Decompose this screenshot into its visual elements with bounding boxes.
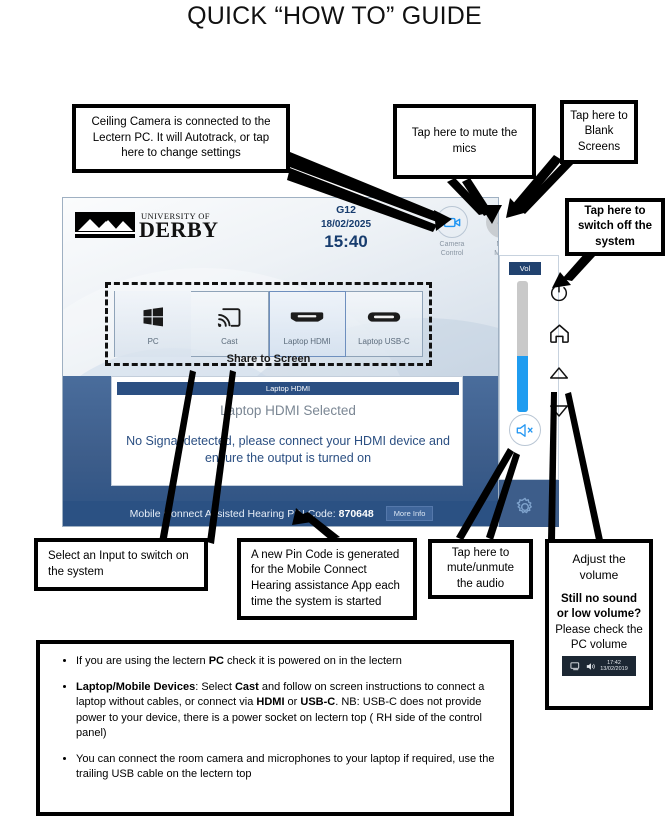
volume-slider[interactable] [517,281,528,412]
hdmi-icon [290,302,324,332]
adjust-volume-line3: Please check the PC volume [555,623,643,653]
mute-audio-button[interactable] [509,414,541,446]
mic-mute-label: Mic Mute [475,241,499,259]
adjust-volume-line2: Still no sound or low volume? [555,592,643,622]
callout-mute-audio: Tap here to mute/unmute the audio [428,539,533,599]
microphone-muted-icon [494,213,500,232]
callout-mute-mics: Tap here to mute the mics [393,104,536,179]
callout-ceiling-camera-text: Ceiling Camera is connected to the Lecte… [82,115,280,162]
room-name: G12 [301,204,391,218]
room-datetime-block: G12 18/02/2025 15:40 [301,204,391,252]
cast-icon [217,302,242,332]
adjust-volume-line1: Adjust the volume [555,551,643,583]
pin-code-value: 870648 [339,508,374,520]
list-item: Laptop/Mobile Devices: Select Cast and f… [76,680,496,741]
source-label-cast: Cast [221,337,237,346]
panel-header: UNIVERSITY OF DERBY G12 18/02/2025 15:40… [63,198,499,264]
power-icon [548,282,570,304]
speaker-icon [585,661,596,672]
source-button-laptop-usbc[interactable]: Laptop USB-C [346,291,423,357]
callout-switch-off-text: Tap here to switch off the system [575,204,655,251]
mic-mute-ring [486,206,499,238]
video-camera-icon [443,213,462,232]
pin-bar-text: Mobile Connect Assisted Hearing PIN Code… [130,508,336,520]
volume-up-button[interactable] [542,358,576,388]
source-label-laptop-usbc: Laptop USB-C [358,337,410,346]
instructions-list: If you are using the lectern PC check it… [50,654,496,782]
share-to-screen-label: Share to Screen [105,353,432,365]
home-button[interactable] [542,318,576,348]
status-message: No Signal detected, please connect your … [120,433,456,467]
settings-gear-icon[interactable] [514,496,536,518]
pc-taskbar-chip: 17:42 13/02/2019 [562,656,636,676]
power-button[interactable] [542,278,576,308]
status-window: Laptop HDMI Laptop HDMI Selected No Sign… [111,376,463,486]
logo-line-derby: DERBY [139,219,219,241]
source-label-laptop-hdmi: Laptop HDMI [284,337,331,346]
callout-ceiling-camera: Ceiling Camera is connected to the Lecte… [72,104,290,173]
mic-mute-button[interactable]: Mic Mute [475,206,499,259]
pin-code-bar: Mobile Connect Assisted Hearing PIN Code… [63,501,499,526]
source-selector-row[interactable]: PC Cast Laptop HDMI [114,291,423,357]
taskbar-date: 13/02/2019 [600,666,628,672]
list-item: You can connect the room camera and micr… [76,752,496,782]
callout-select-input: Select an Input to switch on the system [34,538,208,591]
callout-blank-screens: Tap here to Blank Screens [560,100,638,164]
usbc-icon [367,302,401,332]
home-icon [548,322,571,345]
callout-mute-audio-text: Tap here to mute/unmute the audio [438,546,523,593]
volume-slider-fill [517,356,528,412]
speaker-mute-icon [515,422,535,439]
callout-switch-off: Tap here to switch off the system [565,198,665,256]
list-item: If you are using the lectern PC check it… [76,654,496,669]
callout-pin-code-text: A new Pin Code is generated for the Mobi… [251,548,407,610]
triangle-up-icon [549,366,569,380]
callout-pin-code: A new Pin Code is generated for the Mobi… [237,538,417,620]
source-button-laptop-hdmi[interactable]: Laptop HDMI [269,291,346,357]
instructions-box: If you are using the lectern PC check it… [36,640,514,816]
derby-mountains-icon [75,212,135,238]
page-title: QUICK “HOW TO” GUIDE [0,2,669,31]
camera-control-ring [436,206,468,238]
windows-icon [141,302,165,332]
volume-down-button[interactable] [542,396,576,426]
triangle-down-icon [549,404,569,418]
source-label-pc: PC [148,337,159,346]
source-button-cast[interactable]: Cast [191,291,268,357]
callout-select-input-text: Select an Input to switch on the system [48,549,198,580]
status-selected-text: Laptop HDMI Selected [112,403,464,418]
university-of-derby-logo: UNIVERSITY OF DERBY [75,211,227,247]
lectern-touch-panel[interactable]: UNIVERSITY OF DERBY G12 18/02/2025 15:40… [62,197,499,527]
current-time: 15:40 [301,231,391,252]
callout-adjust-volume: Adjust the volume Still no sound or low … [545,539,653,710]
camera-control-button[interactable]: Camera Control [425,206,479,259]
volume-label-tab: Vol [509,262,541,275]
source-button-pc[interactable]: PC [114,291,191,357]
callout-mute-mics-text: Tap here to mute the mics [403,126,526,157]
camera-control-label: Camera Control [425,241,479,259]
status-window-title: Laptop HDMI [117,382,459,395]
monitor-icon [570,661,581,672]
current-date: 18/02/2025 [301,218,391,231]
callout-blank-screens-text: Tap here to Blank Screens [570,109,628,156]
more-info-button[interactable]: More Info [386,506,434,521]
